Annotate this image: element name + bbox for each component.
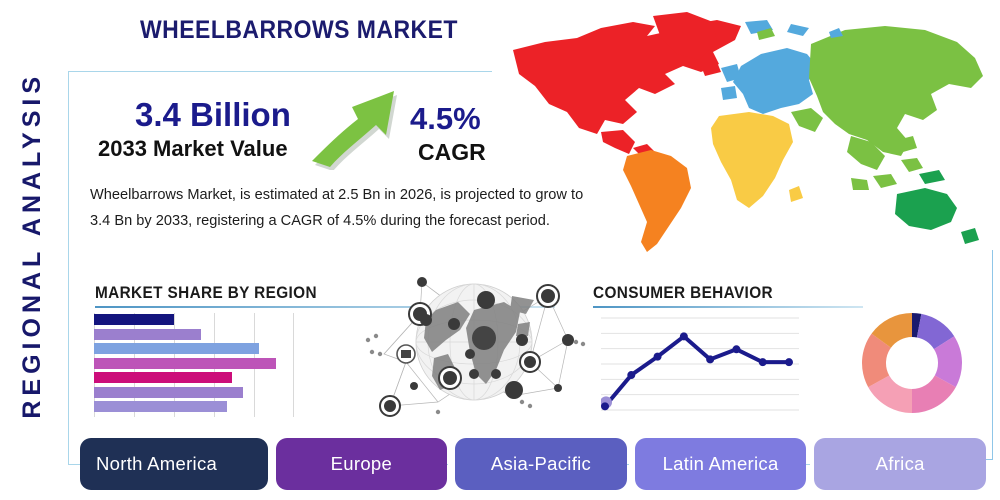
region-pill-north-america[interactable]: North America — [80, 438, 268, 490]
donut-chart-svg — [860, 311, 964, 415]
line-marker — [627, 371, 635, 379]
region-pill-africa[interactable]: Africa — [814, 438, 986, 490]
region-pill-asia-pacific[interactable]: Asia-Pacific — [455, 438, 627, 490]
region-pill-latin-america[interactable]: Latin America — [635, 438, 807, 490]
market-value-number: 3.4 Billion — [135, 96, 291, 134]
page-title: WHEELBARROWS MARKET — [140, 16, 458, 45]
line-marker — [680, 332, 688, 340]
infographic-root: REGIONAL ANALYSIS WHEELBARROWS MARKET 3.… — [0, 0, 1000, 500]
line-marker — [654, 353, 662, 361]
green-growth-arrow-icon — [310, 85, 405, 170]
region-pill-europe[interactable]: Europe — [276, 438, 448, 490]
region-pill-label: Europe — [331, 453, 392, 475]
consumer-behavior-heading-rule — [593, 306, 863, 308]
line-chart-svg — [601, 312, 799, 416]
market-value-caption: 2033 Market Value — [98, 136, 288, 162]
market-share-heading: MARKET SHARE BY REGION — [95, 284, 317, 303]
bar-row — [94, 387, 243, 398]
world-map-icon — [505, 8, 995, 263]
frame-top-line — [68, 71, 492, 72]
frame-left-line — [68, 71, 69, 465]
market-share-bar-chart — [94, 313, 294, 417]
cagr-number: 4.5% — [410, 101, 481, 137]
region-pill-label: North America — [96, 453, 217, 475]
bar-row — [94, 314, 174, 325]
region-pill-label: Africa — [876, 453, 925, 475]
side-label-text: REGIONAL ANALYSIS — [18, 72, 47, 419]
bar-row — [94, 401, 227, 412]
line-marker — [785, 358, 793, 366]
global-network-globe-icon — [362, 266, 587, 421]
side-label: REGIONAL ANALYSIS — [6, 70, 58, 420]
frame-right-line — [992, 250, 993, 460]
region-pill-bar: North AmericaEuropeAsia-PacificLatin Ame… — [80, 438, 986, 490]
consumer-behavior-line-chart — [601, 312, 799, 416]
bar-row — [94, 372, 232, 383]
region-pill-label: Asia-Pacific — [491, 453, 591, 475]
cagr-caption: CAGR — [418, 139, 486, 166]
region-pill-label: Latin America — [663, 453, 779, 475]
line-marker — [732, 345, 740, 353]
consumer-behavior-heading: CONSUMER BEHAVIOR — [593, 284, 773, 303]
line-marker — [601, 402, 609, 410]
line-marker — [759, 358, 767, 366]
consumer-segments-donut-chart — [860, 311, 964, 415]
line-marker — [706, 355, 714, 363]
bar-row — [94, 343, 259, 354]
bar-row — [94, 358, 276, 369]
bar-row — [94, 329, 201, 340]
